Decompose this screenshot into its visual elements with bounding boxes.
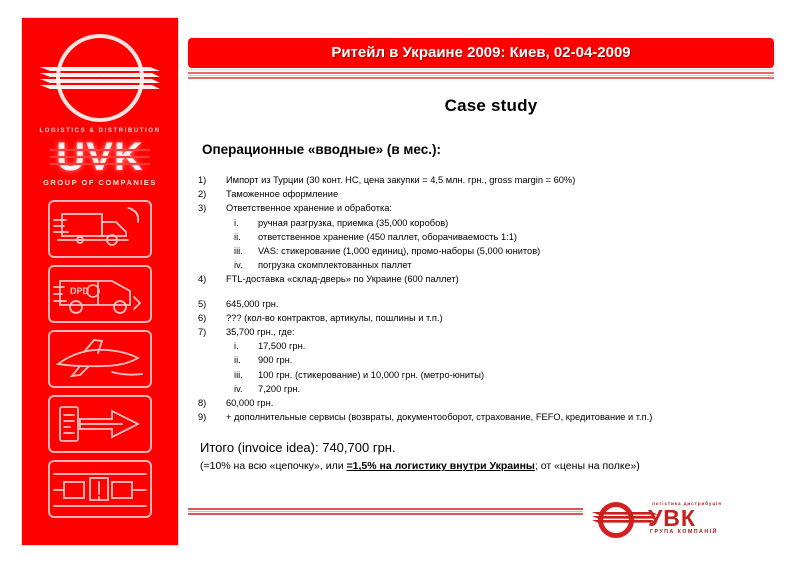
list-item-text: + дополнительные сервисы (возвраты, доку… — [226, 410, 652, 424]
list-item-text: FTL-доставка «склад-дверь» по Украине (6… — [226, 272, 459, 286]
list-item-text: погрузка скомплектованных паллет — [254, 258, 411, 272]
list-item-marker: 8) — [196, 396, 226, 410]
list-item-marker: 9) — [196, 410, 226, 424]
document-arrow-icon — [48, 395, 152, 453]
list-item: 6)??? (кол-во контрактов, артикулы, пошл… — [196, 311, 786, 325]
logo-wordmark: UVK — [22, 136, 178, 178]
list-item-text: 35,700 грн., где: — [226, 325, 295, 339]
footer-uvk-logo: логістика дистрибуція УВК ГРУПА КОМПАНІЙ — [592, 498, 782, 542]
list-item-text: 100 грн. (стикерование) и 10,000 грн. (м… — [254, 368, 484, 382]
list-item: 3)Ответственное хранение и обработка: — [196, 201, 786, 215]
list-item-text: Импорт из Турции (30 конт. HC, цена заку… — [226, 173, 575, 187]
footer-logo-tagline-bottom: ГРУПА КОМПАНІЙ — [650, 529, 718, 535]
list-item-text: 60,000 грн. — [226, 396, 273, 410]
footer-divider-2 — [188, 511, 583, 512]
footer-divider-1 — [188, 508, 583, 510]
truck-icon — [48, 200, 152, 258]
list-item-marker: 2) — [196, 187, 226, 201]
title-banner: Ритейл в Украине 2009: Киев, 02-04-2009 — [188, 38, 774, 68]
sidebar-icon-strip: DPD — [22, 200, 178, 525]
list-item: iv.7,200 грн. — [196, 382, 786, 396]
list-item-marker: 6) — [196, 311, 226, 325]
list-item: i.17,500 грн. — [196, 339, 786, 353]
airplane-icon — [48, 330, 152, 388]
list-item-marker: iv. — [196, 258, 254, 272]
list-item-marker: i. — [196, 216, 254, 230]
list-item-text: ответственное хранение (450 паллет, обор… — [254, 230, 517, 244]
section-subheading: Операционные «вводные» (в мес.): — [202, 142, 786, 157]
list-item-marker: 7) — [196, 325, 226, 339]
operations-list-part1: 1)Импорт из Турции (30 конт. HC, цена за… — [196, 173, 786, 287]
banner-divider-3 — [188, 77, 774, 79]
list-spacer — [196, 287, 786, 297]
list-item-text: 7,200 грн. — [254, 382, 300, 396]
uvk-logo: LOGISTICS & DISTRIBUTION UVK GROUP OF CO… — [22, 24, 178, 196]
list-item-marker: iv. — [196, 382, 254, 396]
note-prefix: (=10% на всю «цепочку», или — [200, 460, 347, 472]
list-item: ii.900 грн. — [196, 353, 786, 367]
list-item: 7)35,700 грн., где: — [196, 325, 786, 339]
list-item-text: 645,000 грн. — [226, 297, 278, 311]
list-item: 5)645,000 грн. — [196, 297, 786, 311]
list-item: 2)Таможенное оформление — [196, 187, 786, 201]
list-item: iii.VAS: стикерование (1,000 единиц), пр… — [196, 244, 786, 258]
note-highlight: =1,5% на логистику внутри Украины — [347, 460, 535, 472]
list-item-marker: iii. — [196, 244, 254, 258]
list-item-marker: 3) — [196, 201, 226, 215]
list-item-marker: 4) — [196, 272, 226, 286]
footer-divider-3 — [188, 513, 583, 515]
note-suffix: ; от «цены на полке») — [535, 460, 640, 472]
logo-tagline-bottom: GROUP OF COMPANIES — [22, 178, 178, 187]
main-content: Case study Операционные «вводные» (в мес… — [196, 96, 786, 472]
banner-title: Ритейл в Украине 2009: Киев, 02-04-2009 — [188, 38, 774, 68]
list-item: 1)Импорт из Турции (30 конт. HC, цена за… — [196, 173, 786, 187]
list-item-text: Таможенное оформление — [226, 187, 338, 201]
total-note: (=10% на всю «цепочку», или =1,5% на лог… — [200, 460, 786, 472]
banner-divider-1 — [188, 72, 774, 74]
page-title: Case study — [196, 96, 786, 116]
list-item-text: Ответственное хранение и обработка: — [226, 201, 392, 215]
banner-divider-2 — [188, 75, 774, 76]
list-item: 8)60,000 грн. — [196, 396, 786, 410]
footer-logo-wordmark: УВК — [648, 507, 696, 530]
list-item-marker: i. — [196, 339, 254, 353]
list-item: 4)FTL-доставка «склад-дверь» по Украине … — [196, 272, 786, 286]
list-item-marker: ii. — [196, 353, 254, 367]
list-item-text: ??? (кол-во контрактов, артикулы, пошлин… — [226, 311, 443, 325]
logo-tagline-top: LOGISTICS & DISTRIBUTION — [22, 128, 178, 134]
list-item: i.ручная разгрузка, приемка (35,000 коро… — [196, 216, 786, 230]
list-item-text: VAS: стикерование (1,000 единиц), промо-… — [254, 244, 540, 258]
list-item-marker: iii. — [196, 368, 254, 382]
list-item: iv.погрузка скомплектованных паллет — [196, 258, 786, 272]
dpd-van-icon: DPD — [48, 265, 152, 323]
list-item-text: ручная разгрузка, приемка (35,000 коробо… — [254, 216, 448, 230]
list-item: iii.100 грн. (стикерование) и 10,000 грн… — [196, 368, 786, 382]
list-item-text: 900 грн. — [254, 353, 292, 367]
total-line: Итого (invoice idea): 740,700 грн. — [200, 440, 786, 455]
list-item-text: 17,500 грн. — [254, 339, 305, 353]
logo-swoosh-icon — [38, 64, 162, 94]
operations-list-part2: 5)645,000 грн.6)??? (кол-во контрактов, … — [196, 297, 786, 425]
list-item: ii.ответственное хранение (450 паллет, о… — [196, 230, 786, 244]
list-item-marker: ii. — [196, 230, 254, 244]
warehouse-alert-icon — [48, 460, 152, 518]
list-item-marker: 5) — [196, 297, 226, 311]
list-item-marker: 1) — [196, 173, 226, 187]
left-sidebar: LOGISTICS & DISTRIBUTION UVK GROUP OF CO… — [22, 18, 178, 545]
list-item: 9)+ дополнительные сервисы (возвраты, до… — [196, 410, 786, 424]
